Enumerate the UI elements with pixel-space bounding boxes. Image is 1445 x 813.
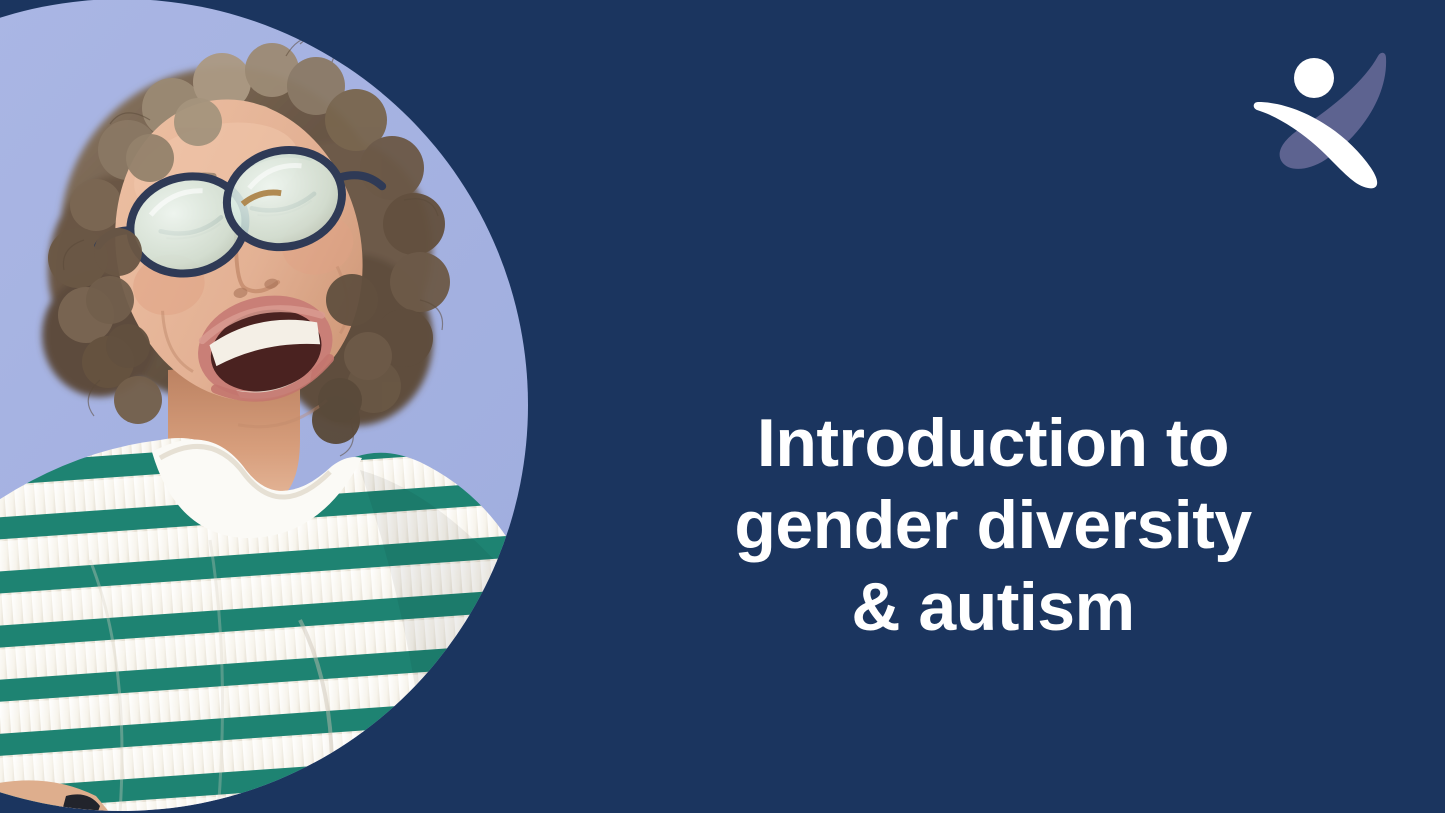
slide-canvas: Introduction to gender diversity & autis…: [0, 0, 1445, 813]
title-line-1: Introduction to: [615, 402, 1371, 484]
title-line-2: gender diversity: [615, 484, 1371, 566]
hero-photo: [0, 0, 540, 813]
photo-circle: [0, 0, 540, 813]
logo-head: [1294, 58, 1334, 98]
slide-title: Introduction to gender diversity & autis…: [615, 402, 1371, 648]
title-line-3: & autism: [615, 566, 1371, 648]
striped-shirt: [0, 438, 540, 813]
brand-logo: [1253, 36, 1403, 191]
